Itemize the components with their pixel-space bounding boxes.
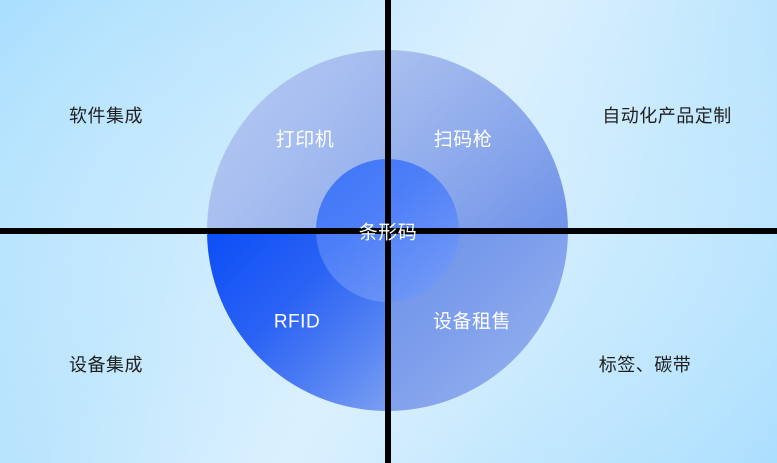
- center-label-barcode: 条形码: [359, 224, 418, 243]
- outer-label-automation-customization: 自动化产品定制: [602, 107, 732, 125]
- outer-label-labels-ribbons: 标签、碳带: [599, 356, 692, 374]
- diagram-canvas: 打印机 扫码枪 RFID 设备租售 条形码 软件集成 自动化产品定制 设备集成 …: [0, 0, 777, 463]
- sector-label-barcode-scanner: 扫码枪: [434, 131, 493, 150]
- sector-label-rfid: RFID: [274, 313, 320, 332]
- sector-label-printer: 打印机: [276, 131, 335, 150]
- outer-label-device-integration: 设备集成: [69, 356, 143, 374]
- outer-label-software-integration: 软件集成: [69, 107, 143, 125]
- sector-label-equipment-rental: 设备租售: [433, 313, 511, 332]
